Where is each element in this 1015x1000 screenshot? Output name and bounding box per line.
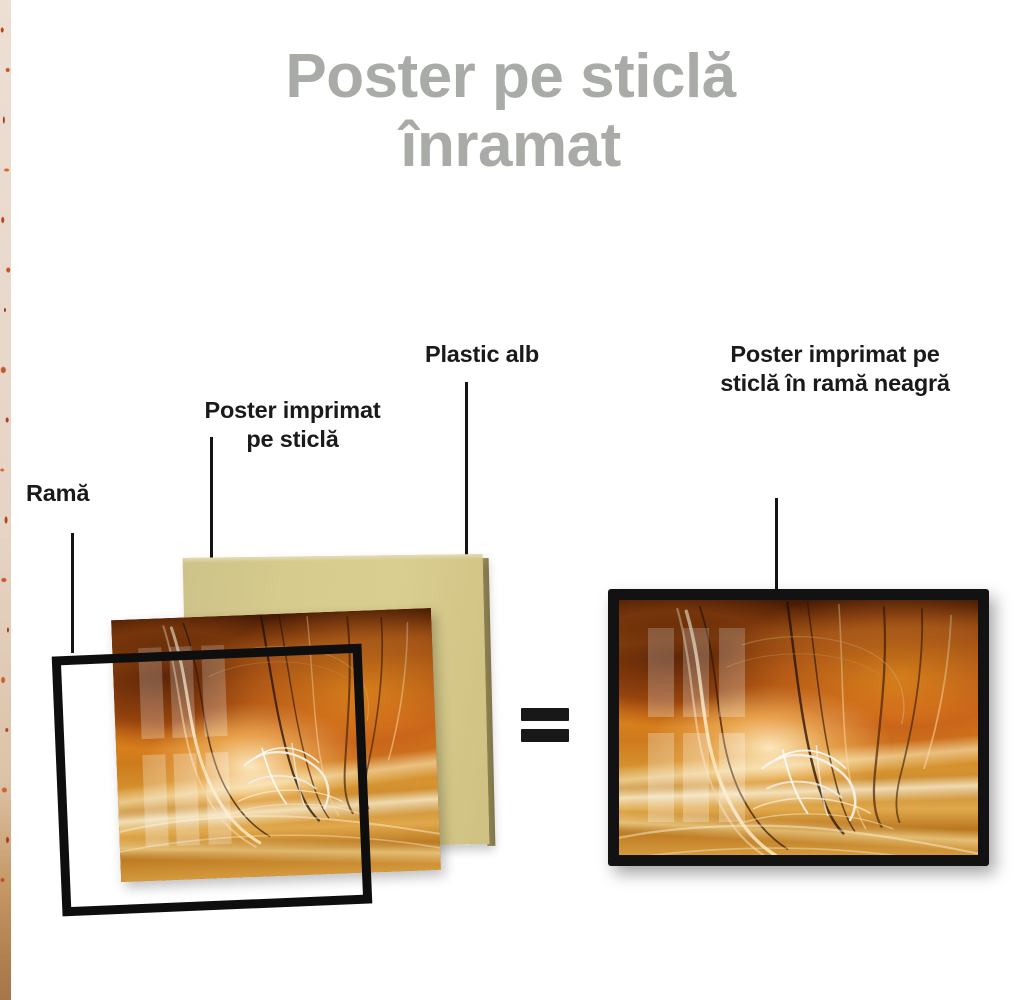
black-frame-outline (52, 644, 373, 917)
equals-bar-top (521, 708, 569, 721)
window-reflection (648, 628, 766, 822)
framed-poster-result (608, 589, 989, 866)
artwork-framed (619, 600, 978, 855)
leader-line-result (775, 498, 778, 589)
framed-poster-artwork-area (619, 600, 978, 855)
poster-product-diagram: Poster pe sticlă înramat Ramă Poster imp… (0, 0, 1015, 1000)
label-result: Poster imprimat pe sticlă în ramă neagră (660, 340, 1010, 397)
equals-bar-bottom (521, 729, 569, 742)
equals-sign (521, 708, 569, 748)
exploded-assembly (0, 0, 540, 1000)
